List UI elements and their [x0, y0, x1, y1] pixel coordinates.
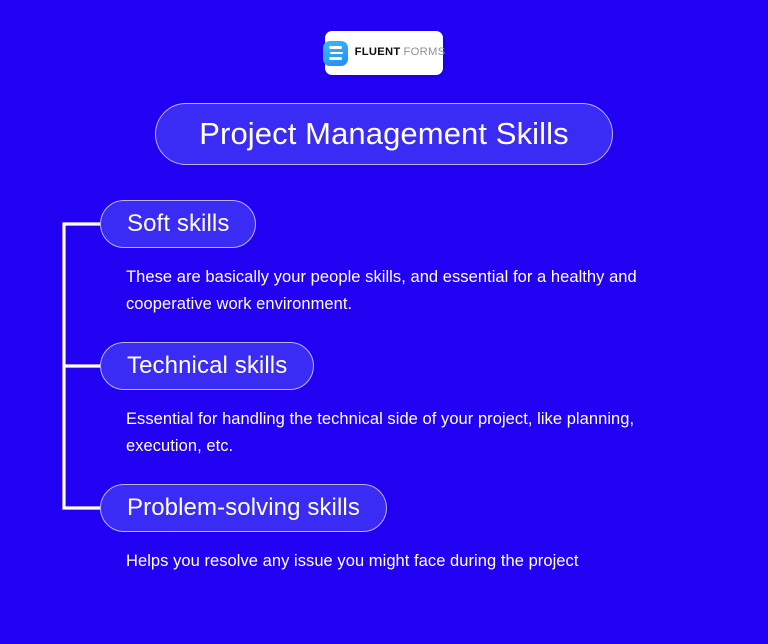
brand-name-primary: FLUENT	[355, 47, 401, 58]
fluent-forms-logo-icon	[323, 41, 348, 66]
brand-wordmark: FLUENT FORMS	[355, 47, 446, 58]
branch-description: Essential for handling the technical sid…	[126, 406, 701, 460]
branch-label: Problem-solving skills	[127, 494, 360, 522]
branch-description: These are basically your people skills, …	[126, 264, 701, 318]
branch-item: Technical skills Essential for handling …	[100, 342, 701, 460]
page-title-pill: Project Management Skills	[155, 103, 613, 165]
branch-item: Soft skills These are basically your peo…	[100, 200, 701, 318]
branch-label: Soft skills	[127, 210, 229, 238]
brand-logo-card: FLUENT FORMS	[325, 31, 443, 75]
branch-description: Helps you resolve any issue you might fa…	[126, 548, 578, 575]
branch-pill-soft-skills[interactable]: Soft skills	[100, 200, 256, 248]
branch-pill-technical-skills[interactable]: Technical skills	[100, 342, 314, 390]
branch-pill-problem-solving-skills[interactable]: Problem-solving skills	[100, 484, 387, 532]
page-title: Project Management Skills	[199, 116, 569, 152]
brand-name-secondary: FORMS	[404, 47, 446, 58]
branch-item: Problem-solving skills Helps you resolve…	[100, 484, 578, 575]
branch-label: Technical skills	[127, 352, 287, 380]
bracket-spine	[64, 224, 100, 508]
